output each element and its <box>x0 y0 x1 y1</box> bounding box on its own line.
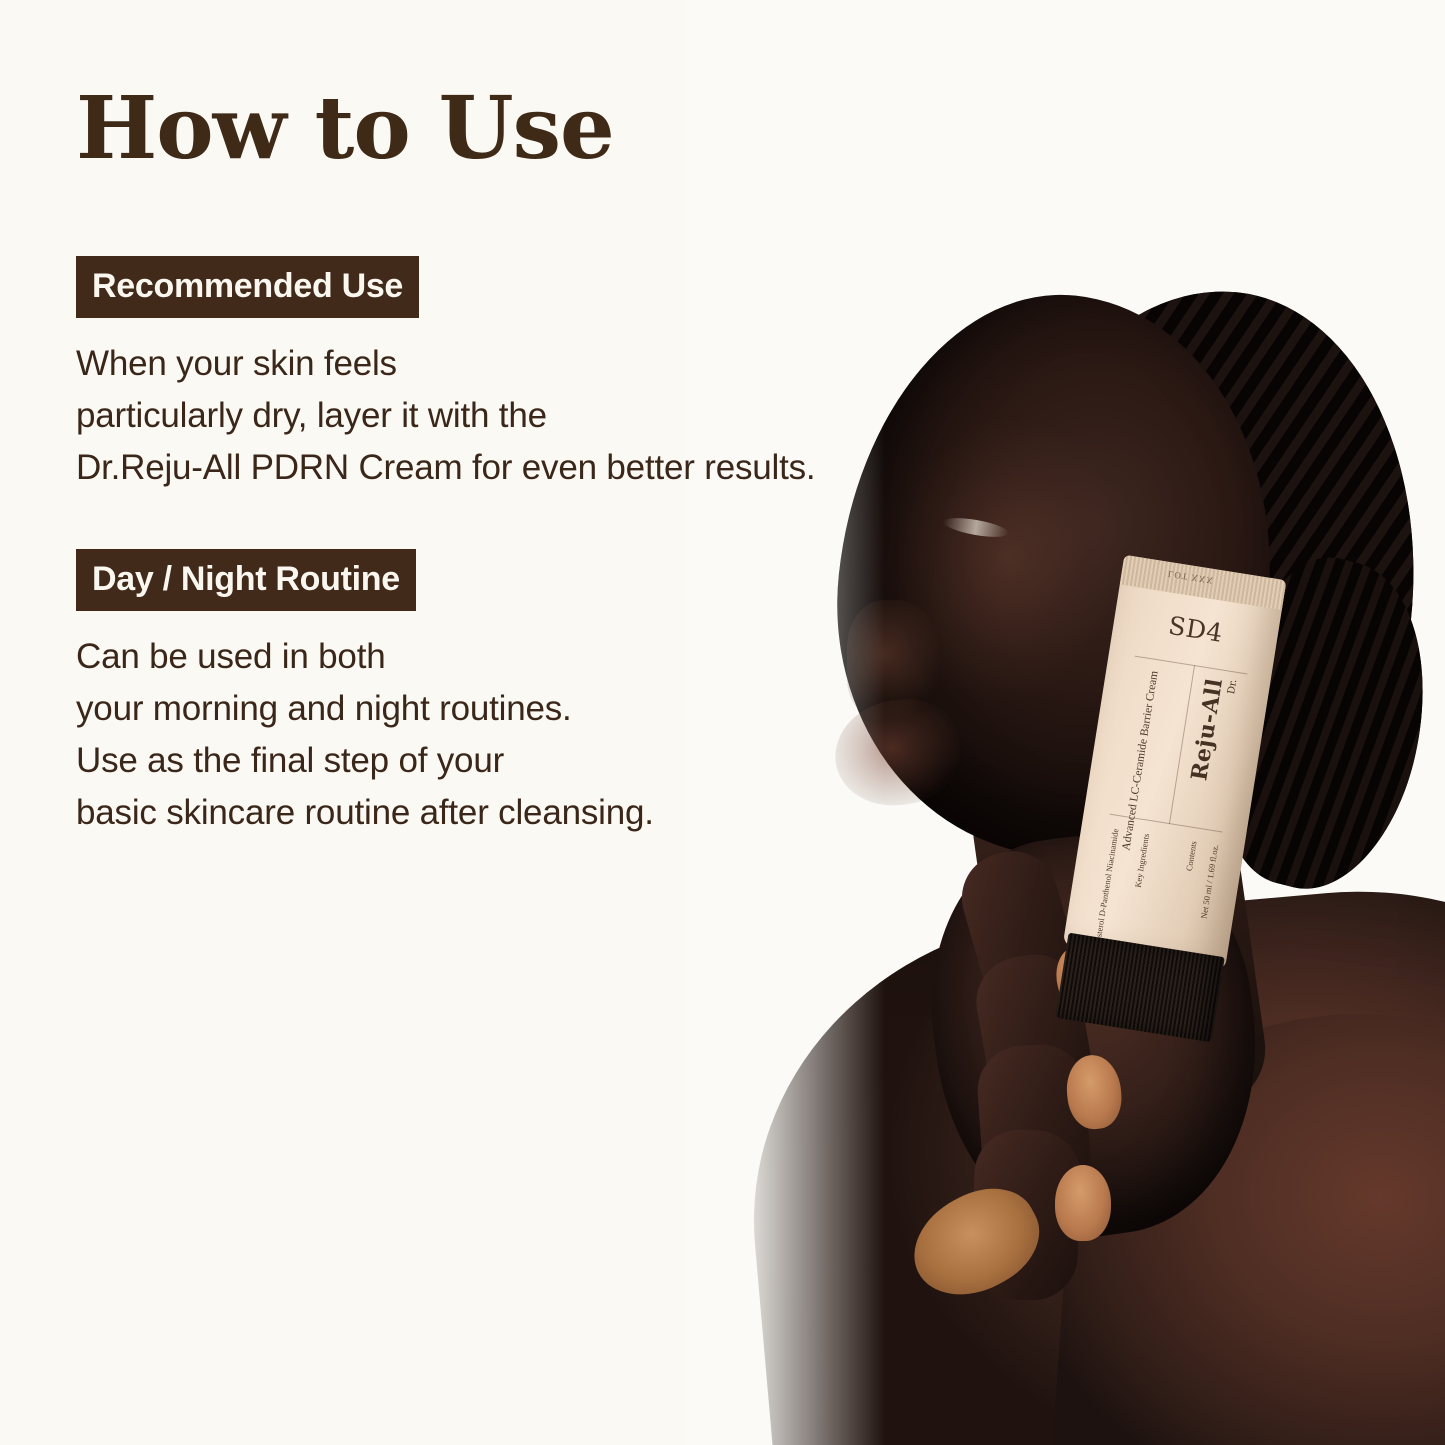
tube-shade-code: SD4 <box>1112 602 1279 656</box>
how-to-use-panel: LOT XXX SD4 Dr. Reju-All Advanced LC-Cer… <box>0 0 1445 1445</box>
model-fingernail <box>1055 1165 1111 1241</box>
tube-brand-name: Reju-All <box>1186 676 1228 782</box>
page-title: How to Use <box>76 86 916 172</box>
body-line: Dr.Reju-All PDRN Cream for even better r… <box>76 442 916 494</box>
body-line: Can be used in both <box>76 631 916 683</box>
copy-column: How to Use Recommended Use When your ski… <box>76 86 916 895</box>
section-day-night-routine: Day / Night Routine Can be used in both … <box>76 549 916 838</box>
section-recommended-use: Recommended Use When your skin feels par… <box>76 256 916 493</box>
tube-brand-prefix: Dr. <box>1226 679 1239 695</box>
body-line: basic skincare routine after cleansing. <box>76 787 916 839</box>
tube-contents-value: Net 50 ml / 1.69 fl.oz. <box>1199 844 1221 920</box>
body-line: Use as the final step of your <box>76 735 916 787</box>
body-line: When your skin feels <box>76 338 916 390</box>
body-day-night-routine: Can be used in both your morning and nig… <box>76 631 916 838</box>
badge-recommended-use: Recommended Use <box>76 256 419 318</box>
tube-subtitle: Advanced LC-Ceramide Barrier Cream <box>1118 670 1163 852</box>
badge-day-night-routine: Day / Night Routine <box>76 549 416 611</box>
body-line: your morning and night routines. <box>76 683 916 735</box>
body-recommended-use: When your skin feels particularly dry, l… <box>76 338 916 493</box>
tube-contents-label: Contents <box>1184 840 1199 871</box>
body-line: particularly dry, layer it with the <box>76 390 916 442</box>
